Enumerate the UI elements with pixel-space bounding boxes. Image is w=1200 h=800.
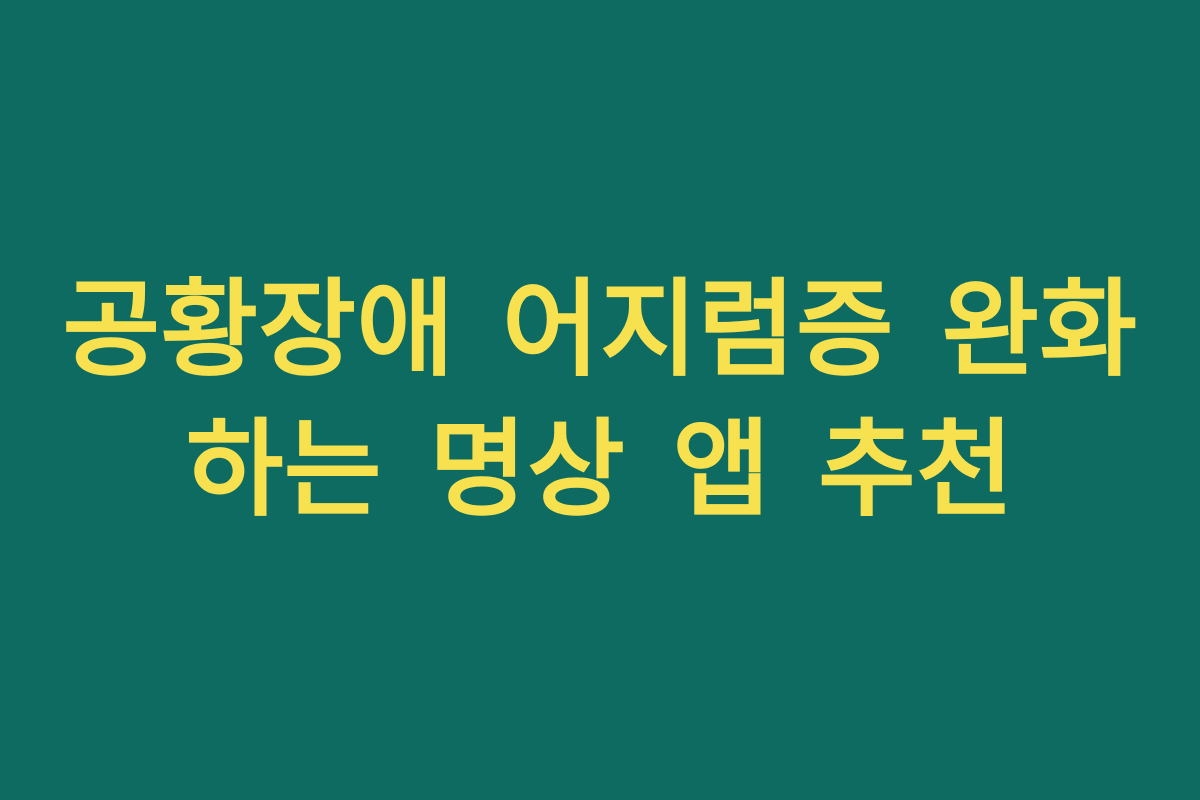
title-line-1: 공황장애 어지럼증 완화 [50,260,1150,400]
page-title: 공황장애 어지럼증 완화 하는 명상 앱 추천 [50,260,1150,540]
thumbnail-canvas: 공황장애 어지럼증 완화 하는 명상 앱 추천 [0,0,1200,800]
title-line-2: 하는 명상 앱 추천 [50,400,1150,540]
